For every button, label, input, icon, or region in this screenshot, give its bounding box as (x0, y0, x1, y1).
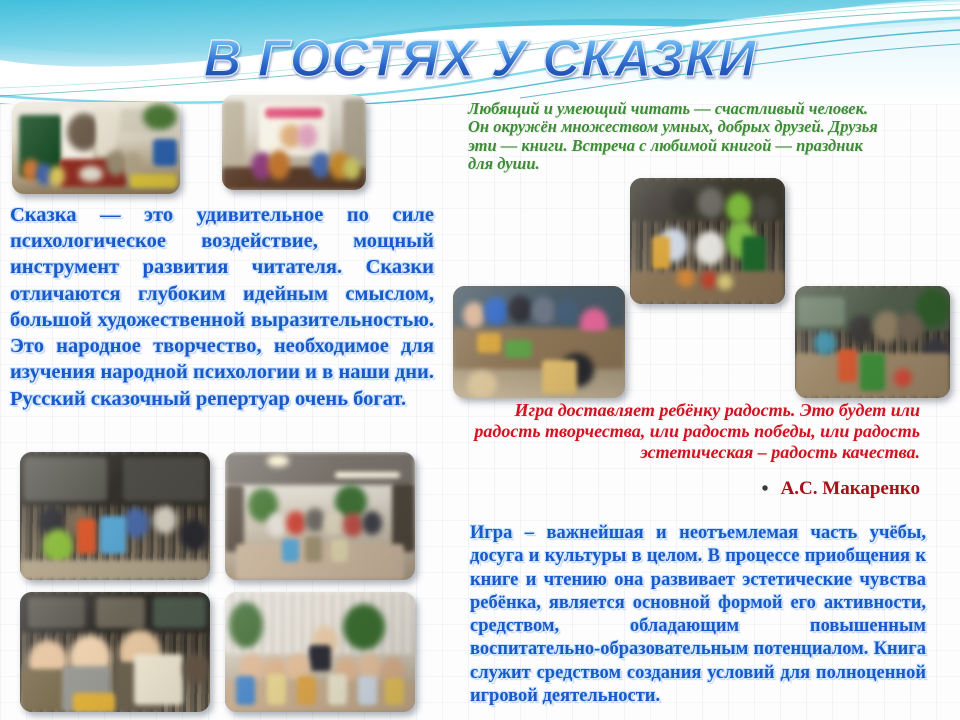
photo-children-group-library (225, 452, 415, 580)
photo-book-display-stand (222, 95, 366, 190)
intro-quote-text: Любящий и умеющий читать — счастливый че… (468, 100, 880, 174)
bullet-icon: • (762, 478, 769, 500)
makarenko-quote-text: Игра доставляет ребёнку радость. Это буд… (470, 400, 920, 463)
game-importance-text: Игра – важнейшая и неотъемлемая часть уч… (470, 522, 926, 708)
quote-author-name: А.С. Макаренко (781, 478, 920, 499)
photo-three-children-book (20, 592, 210, 712)
photo-children-floor-toys (630, 178, 785, 304)
photo-children-group-books (20, 452, 210, 580)
quote-author-line: •А.С. Макаренко (470, 478, 920, 501)
presentation-slide: В ГОСТЯХ У СКАЗКИ (0, 0, 960, 720)
photo-children-table-reading (453, 286, 625, 398)
fairytale-description-text: Сказка — это удивительное по силе психол… (10, 202, 434, 412)
photo-children-library-table (795, 286, 950, 398)
page-title: В ГОСТЯХ У СКАЗКИ (0, 33, 960, 85)
photo-book-exhibition-portrait (12, 102, 180, 194)
photo-children-group-curtains (225, 592, 415, 712)
